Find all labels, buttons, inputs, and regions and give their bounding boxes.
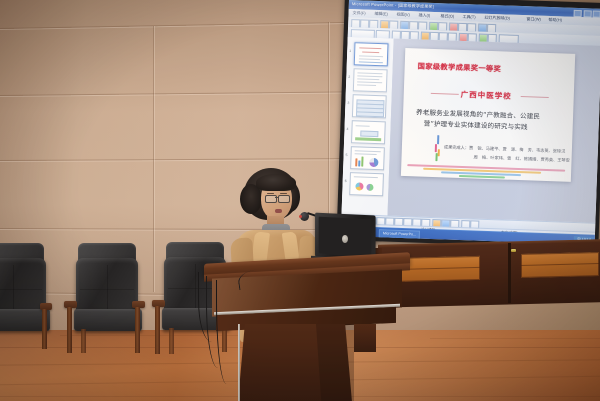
podium-foot-right (354, 324, 376, 352)
eyebrow-right (280, 193, 287, 194)
paneling-hardware-right (511, 249, 516, 252)
close-icon[interactable] (593, 10, 600, 17)
menu-item-window[interactable]: 窗口(W) (526, 16, 541, 23)
chair-leg (67, 307, 72, 353)
slide-thumbnail-4[interactable]: 4 (351, 120, 386, 144)
slide-institution: 广西中医学校 (461, 89, 512, 102)
chair-seat (74, 309, 142, 331)
chair-1 (0, 243, 68, 353)
slide-number: 1 (349, 49, 351, 53)
slide-thumbnail-2[interactable]: 2 (353, 68, 388, 92)
podium-edge-strip (238, 324, 240, 401)
powerpoint-workspace: 1 2 3 (342, 37, 600, 223)
slide-thumbnail-1[interactable]: 1 (354, 42, 389, 66)
slide-thumbnail-6[interactable]: 6 (349, 172, 384, 196)
current-slide[interactable]: 国家级教学成果奖一等奖 广西中医学校 养老服务业发展视角的“产教融合、公建民 营… (401, 48, 575, 182)
presentation-room-photo: Microsoft PowerPoint - [国家级教学成果奖] 文件(F) … (0, 0, 600, 401)
podium-column-shadow (316, 324, 354, 401)
paneling-divider (508, 243, 511, 303)
minimize-icon[interactable] (574, 9, 582, 16)
slide-thumbnail-3[interactable]: 3 (352, 94, 387, 118)
slide-number: 2 (348, 75, 350, 79)
chair-seam (13, 265, 14, 309)
chair-seam (107, 265, 108, 309)
chair-seam (0, 289, 42, 290)
chair-leg (42, 309, 47, 349)
slide-number: 5 (346, 153, 348, 157)
laptop-logo (342, 235, 348, 243)
chair-seam (80, 289, 134, 290)
microphone-indicator (299, 215, 302, 218)
projected-powerpoint-screen: Microsoft PowerPoint - [国家级教学成果奖] 文件(F) … (341, 0, 600, 245)
slide-thumbnail-5[interactable]: 5 (350, 146, 385, 170)
chair-leg (169, 328, 174, 354)
chair-2 (72, 243, 162, 353)
menu-item-help[interactable]: 帮助(H) (548, 17, 562, 23)
slide-authors-label: 成果完成人： (444, 144, 469, 150)
slide-editing-stage: 国家级教学成果奖一等奖 广西中医学校 养老服务业发展视角的“产教融合、公建民 营… (388, 39, 600, 223)
menu-item-file[interactable]: 文件(F) (352, 10, 365, 16)
chair-leg (81, 329, 86, 353)
slide-number: 3 (347, 101, 349, 105)
glasses-bridge (275, 197, 278, 198)
eyebrow-left (267, 193, 274, 194)
menu-item-tools[interactable]: 工具(T) (462, 14, 475, 20)
chair-leg (155, 306, 160, 354)
menu-item-edit[interactable]: 编辑(E) (374, 11, 388, 17)
hair-fringe (256, 174, 296, 191)
slide-decor-bar-orange (438, 149, 440, 156)
glasses-lens-right (278, 195, 290, 203)
mouth (275, 209, 282, 213)
floor-plank-line (430, 338, 600, 339)
menu-item-view[interactable]: 视图(V) (396, 12, 410, 18)
slide-number: 4 (346, 127, 348, 131)
chair-leg (135, 307, 140, 353)
menu-item-slideshow[interactable]: 幻灯片放映(D) (484, 15, 510, 22)
restore-icon[interactable] (583, 10, 591, 17)
menu-item-insert[interactable]: 插入(I) (418, 12, 430, 18)
podium (196, 258, 416, 401)
slide-decor-bar-pink (435, 144, 437, 152)
paneling-inset-right (521, 252, 599, 278)
menu-item-format[interactable]: 格式(O) (440, 13, 454, 19)
slide-decor-bar-blue (437, 135, 439, 144)
slide-decor-bar-green (435, 153, 437, 161)
